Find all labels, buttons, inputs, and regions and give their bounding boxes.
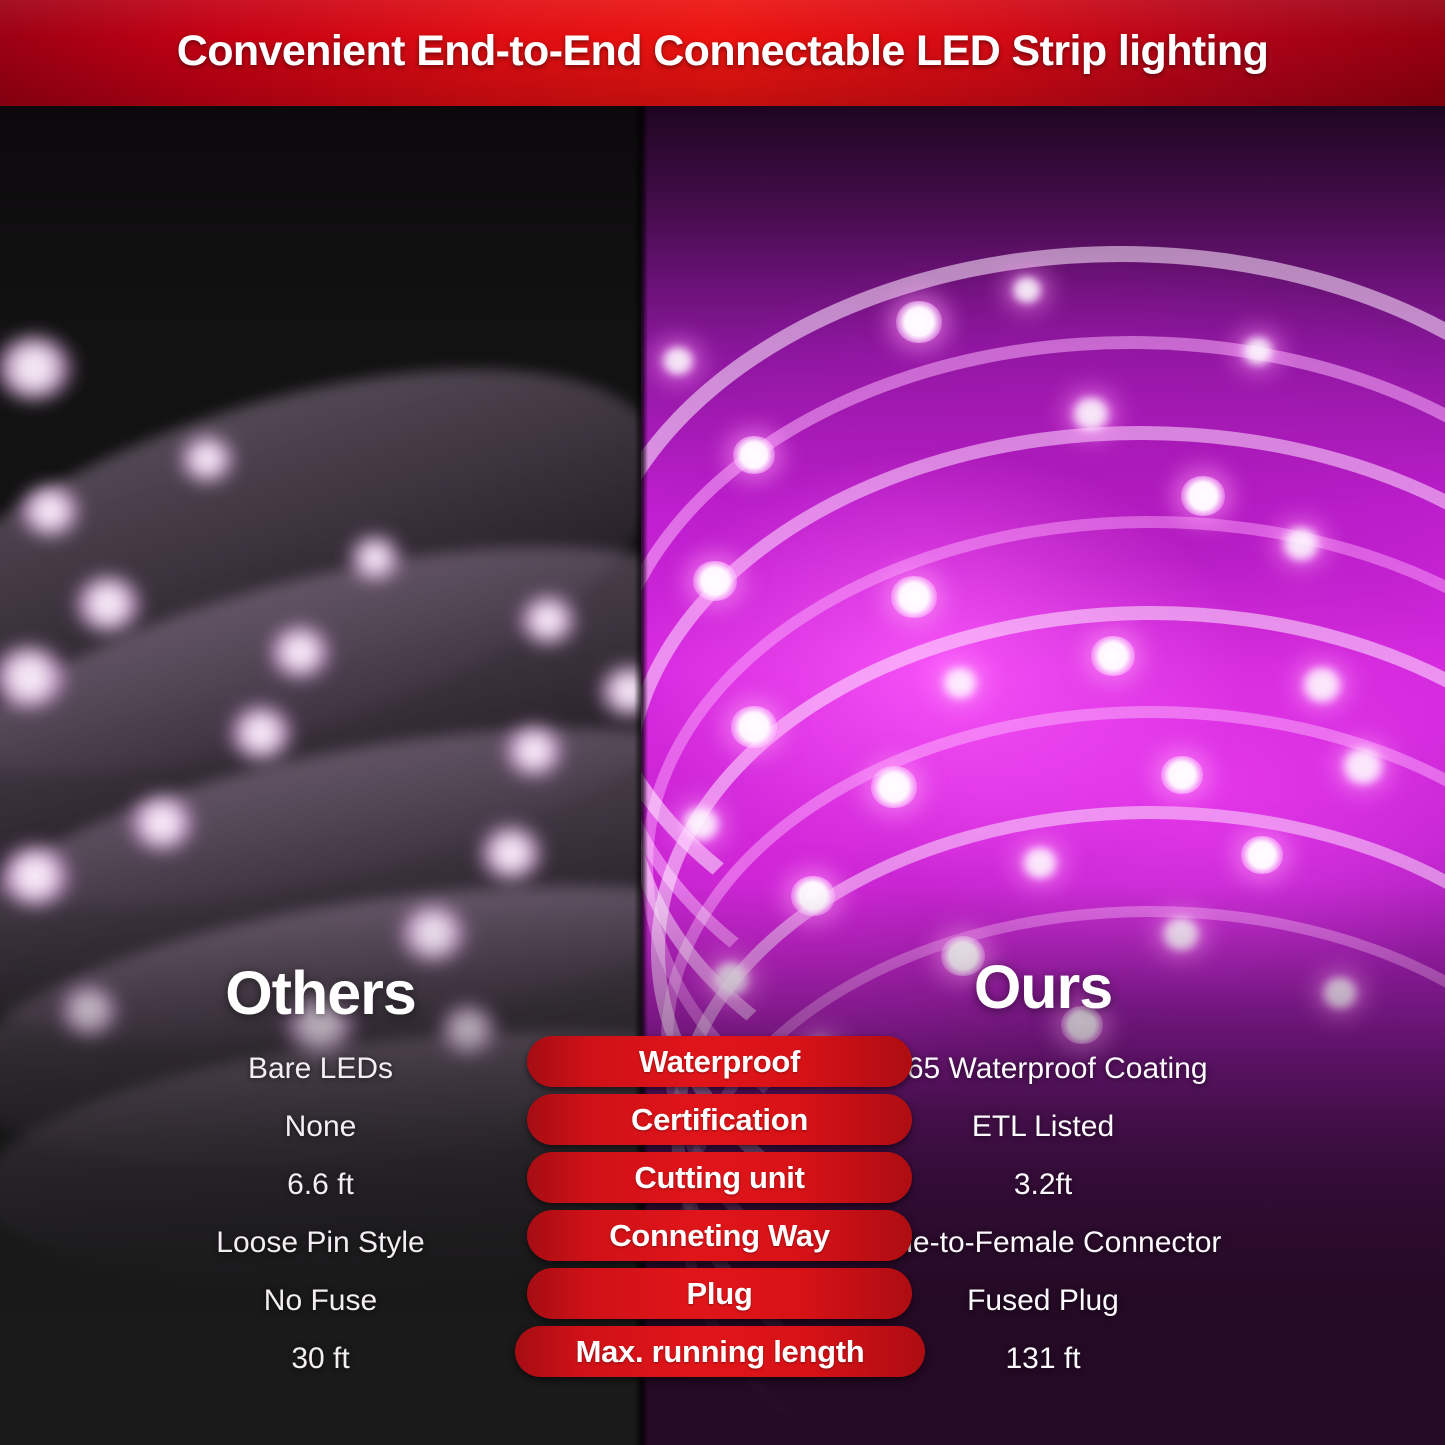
- feature-pill-cutting-unit: Cutting unit: [527, 1152, 912, 1203]
- others-column-title: Others: [0, 958, 641, 1028]
- ours-column-title: Ours: [641, 952, 1445, 1022]
- comparison-infographic: Convenient End-to-End Connectable LED St…: [0, 0, 1445, 1445]
- feature-pill-label: Certification: [631, 1102, 808, 1138]
- feature-pill-label: Plug: [687, 1276, 753, 1312]
- feature-pill-max-running-length: Max. running length: [515, 1326, 925, 1377]
- feature-pill-certification: Certification: [527, 1094, 912, 1145]
- text-overlay: Others Ours Bare LEDs None 6.6 ft Loose …: [0, 0, 1445, 1445]
- feature-pill-label: Cutting unit: [634, 1160, 804, 1196]
- feature-pill-label: Waterproof: [639, 1044, 800, 1080]
- feature-pill-label: Conneting Way: [609, 1218, 830, 1254]
- feature-pill-label: Max. running length: [576, 1334, 865, 1370]
- feature-pill-waterproof: Waterproof: [527, 1036, 912, 1087]
- feature-pill-plug: Plug: [527, 1268, 912, 1319]
- feature-pill-conneting-way: Conneting Way: [527, 1210, 912, 1261]
- banner-title: Convenient End-to-End Connectable LED St…: [177, 27, 1269, 79]
- header-banner: Convenient End-to-End Connectable LED St…: [0, 0, 1445, 106]
- feature-pill-list: Waterproof Certification Cutting unit Co…: [527, 1036, 912, 1384]
